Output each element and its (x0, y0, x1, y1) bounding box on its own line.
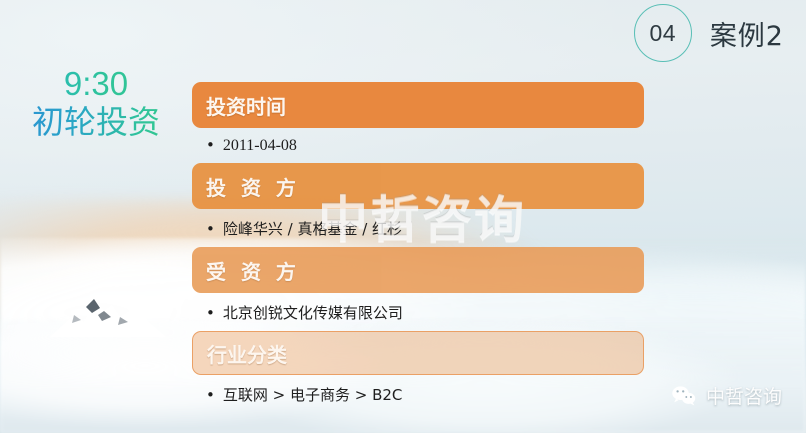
block-investee: 受 资 方 • 北京创锐文化传媒有限公司 (192, 247, 644, 323)
slide-root: 04 案例2 9:30 初轮投资 投资时间 • 2011-04-08 投 资 方… (0, 0, 806, 433)
block-header-label: 投 资 方 (206, 172, 300, 201)
block-value-row: • 险峰华兴 / 真格基金 / 红杉 (192, 218, 644, 239)
block-industry: 行业分类 • 互联网 > 电子商务 > B2C (192, 331, 644, 405)
block-header-label: 投资时间 (206, 91, 286, 120)
section-number-badge: 04 (634, 4, 692, 62)
block-header-bar: 投 资 方 (192, 163, 644, 209)
content-blocks: 投资时间 • 2011-04-08 投 资 方 • 险峰华兴 / 真格基金 / … (192, 82, 644, 405)
bullet-point-icon: • (206, 138, 215, 153)
block-header-bar: 受 资 方 (192, 247, 644, 293)
bullet-point-icon: • (206, 222, 215, 237)
block-value-text: 北京创锐文化传媒有限公司 (223, 302, 403, 323)
block-header-bar: 投资时间 (192, 82, 644, 128)
stage-label: 9:30 初轮投资 (10, 66, 182, 141)
bullet-point-icon: • (206, 388, 215, 403)
mountain-peak-icon (48, 291, 168, 337)
block-value-text: 2011-04-08 (223, 137, 297, 155)
block-value-row: • 互联网 > 电子商务 > B2C (192, 384, 644, 405)
block-value-text: 险峰华兴 / 真格基金 / 红杉 (223, 218, 402, 239)
block-value-row: • 2011-04-08 (192, 137, 644, 155)
block-investors: 投 资 方 • 险峰华兴 / 真格基金 / 红杉 (192, 163, 644, 239)
stage-name: 初轮投资 (10, 105, 182, 141)
brand-name: 中哲咨询 (706, 382, 782, 409)
brand-footer: 中哲咨询 (671, 382, 782, 409)
block-header-bar: 行业分类 (192, 331, 644, 375)
wechat-icon (671, 385, 697, 407)
block-investment-date: 投资时间 • 2011-04-08 (192, 82, 644, 155)
bullet-point-icon: • (206, 306, 215, 321)
block-value-row: • 北京创锐文化传媒有限公司 (192, 302, 644, 323)
page-title: 案例2 (710, 14, 784, 53)
block-header-label: 受 资 方 (206, 256, 300, 285)
block-value-text: 互联网 > 电子商务 > B2C (223, 384, 403, 405)
slide-header: 04 案例2 (634, 4, 784, 62)
stage-time: 9:30 (10, 66, 182, 103)
block-header-label: 行业分类 (207, 339, 287, 368)
